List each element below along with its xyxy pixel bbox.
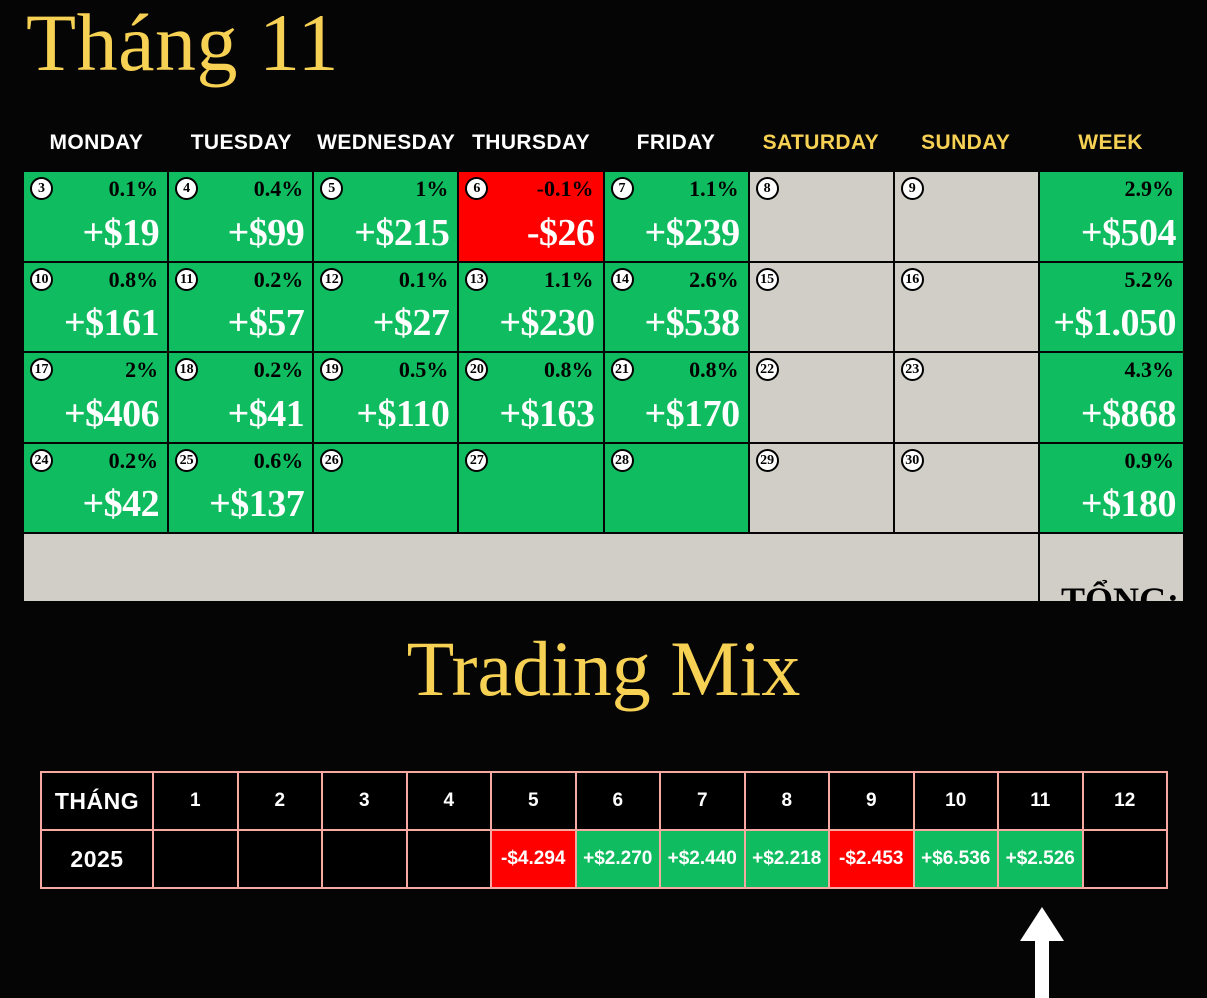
day-number-badge: 19 bbox=[320, 358, 343, 381]
pnl-amount: +$110 bbox=[314, 392, 449, 436]
up-arrow-icon bbox=[1016, 905, 1068, 998]
weekday-header-tuesday: TUESDAY bbox=[169, 125, 314, 161]
day-number-badge: 10 bbox=[30, 268, 53, 291]
pnl-amount: +$230 bbox=[459, 301, 594, 345]
mix-month-header: 12 bbox=[1083, 772, 1168, 830]
calendar-day-cell[interactable]: 190.5%+$110 bbox=[314, 353, 457, 442]
day-number-badge: 17 bbox=[30, 358, 53, 381]
calendar-day-cell[interactable]: 40.4%+$99 bbox=[169, 172, 312, 261]
mix-month-header: 11 bbox=[998, 772, 1083, 830]
table-row-months: THÁNG 123456789101112 bbox=[41, 772, 1167, 830]
percent-change: 0.8% bbox=[109, 267, 159, 293]
weekday-header-sunday: SUNDAY bbox=[893, 125, 1038, 161]
pnl-amount: -$26 bbox=[459, 211, 594, 255]
calendar-day-cell[interactable]: 250.6%+$137 bbox=[169, 444, 312, 533]
pnl-amount: +$239 bbox=[605, 211, 740, 255]
pnl-amount: +$161 bbox=[24, 301, 159, 345]
calendar-day-cell[interactable]: 131.1%+$230 bbox=[459, 263, 602, 352]
slide-root: Tháng 11 MONDAYTUESDAYWEDNESDAYTHURSDAYF… bbox=[0, 0, 1207, 998]
mix-month-value[interactable] bbox=[238, 830, 323, 888]
week-summary-cell[interactable]: 2.9%+$504 bbox=[1040, 172, 1183, 261]
mix-month-header: 2 bbox=[238, 772, 323, 830]
calendar-day-cell[interactable]: 23 bbox=[895, 353, 1038, 442]
calendar-day-cell[interactable]: 200.8%+$163 bbox=[459, 353, 602, 442]
calendar-day-cell[interactable]: 180.2%+$41 bbox=[169, 353, 312, 442]
mix-month-value[interactable] bbox=[407, 830, 492, 888]
pnl-amount: +$41 bbox=[169, 392, 304, 436]
weekday-header-monday: MONDAY bbox=[24, 125, 169, 161]
week-summary-cell[interactable]: 4.3%+$868 bbox=[1040, 353, 1183, 442]
percent-change: 0.8% bbox=[544, 357, 594, 383]
total-label-cell: TỔNG: bbox=[1040, 534, 1183, 601]
trading-mix-table: THÁNG 123456789101112 2025 -$4.294+$2.27… bbox=[40, 771, 1168, 889]
total-row-filler bbox=[24, 534, 1038, 601]
percent-change: 2.9% bbox=[1125, 176, 1175, 202]
calendar-day-cell[interactable]: 100.8%+$161 bbox=[24, 263, 167, 352]
pnl-amount: +$57 bbox=[169, 301, 304, 345]
mix-month-value[interactable]: +$2.440 bbox=[660, 830, 745, 888]
pnl-amount: +$27 bbox=[314, 301, 449, 345]
mix-month-value[interactable]: -$2.453 bbox=[829, 830, 914, 888]
percent-change: 2% bbox=[125, 357, 158, 383]
calendar-day-cell[interactable]: 30 bbox=[895, 444, 1038, 533]
percent-change: -0.1% bbox=[537, 176, 594, 202]
day-number-badge: 22 bbox=[756, 358, 779, 381]
day-number-badge: 9 bbox=[901, 177, 924, 200]
mix-month-header: 9 bbox=[829, 772, 914, 830]
calendar-day-cell[interactable]: 210.8%+$170 bbox=[605, 353, 748, 442]
day-number-badge: 13 bbox=[465, 268, 488, 291]
calendar-day-cell[interactable]: 172%+$406 bbox=[24, 353, 167, 442]
mix-month-value[interactable]: +$6.536 bbox=[914, 830, 999, 888]
day-number-badge: 12 bbox=[320, 268, 343, 291]
day-number-badge: 28 bbox=[611, 449, 634, 472]
calendar-day-cell[interactable]: 8 bbox=[750, 172, 893, 261]
mix-month-header: 1 bbox=[153, 772, 238, 830]
percent-change: 0.5% bbox=[399, 357, 449, 383]
day-number-badge: 4 bbox=[175, 177, 198, 200]
pnl-amount: +$99 bbox=[169, 211, 304, 255]
pnl-amount: +$504 bbox=[1040, 211, 1176, 255]
calendar-day-cell[interactable]: 30.1%+$19 bbox=[24, 172, 167, 261]
calendar-day-cell[interactable]: 6-0.1%-$26 bbox=[459, 172, 602, 261]
day-number-badge: 25 bbox=[175, 449, 198, 472]
page-title: Tháng 11 bbox=[26, 0, 339, 90]
weekday-header-friday: FRIDAY bbox=[604, 125, 749, 161]
pnl-amount: +$868 bbox=[1040, 392, 1176, 436]
percent-change: 1.1% bbox=[544, 267, 594, 293]
day-number-badge: 21 bbox=[611, 358, 634, 381]
mix-month-value[interactable]: +$2.218 bbox=[745, 830, 830, 888]
pnl-amount: +$42 bbox=[24, 482, 159, 526]
pnl-amount: +$1.050 bbox=[1040, 301, 1176, 345]
pnl-amount: +$406 bbox=[24, 392, 159, 436]
mix-month-value[interactable] bbox=[153, 830, 238, 888]
pnl-amount: +$163 bbox=[459, 392, 594, 436]
pnl-amount: +$538 bbox=[605, 301, 740, 345]
weekday-header-row: MONDAYTUESDAYWEDNESDAYTHURSDAYFRIDAYSATU… bbox=[24, 125, 1183, 161]
day-number-badge: 30 bbox=[901, 449, 924, 472]
mix-month-header: 3 bbox=[322, 772, 407, 830]
percent-change: 0.1% bbox=[399, 267, 449, 293]
percent-change: 0.1% bbox=[109, 176, 159, 202]
pnl-amount: +$215 bbox=[314, 211, 449, 255]
mix-month-header: 6 bbox=[576, 772, 661, 830]
weekday-header-week: WEEK bbox=[1038, 125, 1183, 161]
week-summary-cell[interactable]: 0.9%+$180 bbox=[1040, 444, 1183, 533]
calendar-day-cell[interactable]: 28 bbox=[605, 444, 748, 533]
day-number-badge: 7 bbox=[611, 177, 634, 200]
pnl-amount: +$137 bbox=[169, 482, 304, 526]
day-number-badge: 6 bbox=[465, 177, 488, 200]
percent-change: 4.3% bbox=[1125, 357, 1175, 383]
calendar-grid: 30.1%+$1940.4%+$9951%+$2156-0.1%-$2671.1… bbox=[24, 172, 1183, 601]
day-number-badge: 20 bbox=[465, 358, 488, 381]
day-number-badge: 11 bbox=[175, 268, 198, 291]
pnl-amount: +$170 bbox=[605, 392, 740, 436]
mix-month-value[interactable]: +$2.526 bbox=[998, 830, 1083, 888]
mix-month-header: 10 bbox=[914, 772, 999, 830]
calendar-day-cell[interactable]: 9 bbox=[895, 172, 1038, 261]
day-number-badge: 14 bbox=[611, 268, 634, 291]
day-number-badge: 16 bbox=[901, 268, 924, 291]
percent-change: 2.6% bbox=[689, 267, 739, 293]
weekday-header-thursday: THURSDAY bbox=[459, 125, 604, 161]
calendar-day-cell[interactable]: 142.6%+$538 bbox=[605, 263, 748, 352]
day-number-badge: 26 bbox=[320, 449, 343, 472]
day-number-badge: 23 bbox=[901, 358, 924, 381]
percent-change: 0.9% bbox=[1125, 448, 1175, 474]
day-number-badge: 24 bbox=[30, 449, 53, 472]
calendar-day-cell[interactable]: 110.2%+$57 bbox=[169, 263, 312, 352]
percent-change: 0.2% bbox=[109, 448, 159, 474]
day-number-badge: 27 bbox=[465, 449, 488, 472]
day-number-badge: 5 bbox=[320, 177, 343, 200]
calendar-day-cell[interactable]: 240.2%+$42 bbox=[24, 444, 167, 533]
calendar-day-cell[interactable]: 22 bbox=[750, 353, 893, 442]
month-header-label: THÁNG bbox=[41, 772, 153, 830]
week-summary-cell[interactable]: 5.2%+$1.050 bbox=[1040, 263, 1183, 352]
day-number-badge: 8 bbox=[756, 177, 779, 200]
total-label: TỔNG: bbox=[1040, 579, 1179, 602]
mix-month-value[interactable] bbox=[1083, 830, 1168, 888]
mix-month-value[interactable] bbox=[322, 830, 407, 888]
calendar-day-cell[interactable]: 51%+$215 bbox=[314, 172, 457, 261]
calendar-day-cell[interactable]: 120.1%+$27 bbox=[314, 263, 457, 352]
calendar-day-cell[interactable]: 29 bbox=[750, 444, 893, 533]
calendar-day-cell[interactable]: 27 bbox=[459, 444, 602, 533]
year-label: 2025 bbox=[41, 830, 153, 888]
day-number-badge: 15 bbox=[756, 268, 779, 291]
percent-change: 0.8% bbox=[689, 357, 739, 383]
mix-month-header: 5 bbox=[491, 772, 576, 830]
percent-change: 0.2% bbox=[254, 267, 304, 293]
mix-month-header: 4 bbox=[407, 772, 492, 830]
weekday-header-saturday: SATURDAY bbox=[748, 125, 893, 161]
day-number-badge: 3 bbox=[30, 177, 53, 200]
weekday-header-wednesday: WEDNESDAY bbox=[314, 125, 459, 161]
percent-change: 5.2% bbox=[1125, 267, 1175, 293]
mix-month-value[interactable]: -$4.294 bbox=[491, 830, 576, 888]
percent-change: 0.4% bbox=[254, 176, 304, 202]
calendar-day-cell[interactable]: 15 bbox=[750, 263, 893, 352]
day-number-badge: 29 bbox=[756, 449, 779, 472]
percent-change: 1.1% bbox=[689, 176, 739, 202]
percent-change: 0.6% bbox=[254, 448, 304, 474]
calendar-day-cell[interactable]: 26 bbox=[314, 444, 457, 533]
mix-month-value[interactable]: +$2.270 bbox=[576, 830, 661, 888]
pnl-amount: +$19 bbox=[24, 211, 159, 255]
table-row-values: 2025 -$4.294+$2.270+$2.440+$2.218-$2.453… bbox=[41, 830, 1167, 888]
percent-change: 0.2% bbox=[254, 357, 304, 383]
percent-change: 1% bbox=[415, 176, 448, 202]
mix-month-header: 8 bbox=[745, 772, 830, 830]
day-number-badge: 18 bbox=[175, 358, 198, 381]
calendar-day-cell[interactable]: 16 bbox=[895, 263, 1038, 352]
trading-mix-title: Trading Mix bbox=[0, 630, 1207, 708]
mix-month-header: 7 bbox=[660, 772, 745, 830]
pnl-amount: +$180 bbox=[1040, 482, 1176, 526]
calendar-day-cell[interactable]: 71.1%+$239 bbox=[605, 172, 748, 261]
